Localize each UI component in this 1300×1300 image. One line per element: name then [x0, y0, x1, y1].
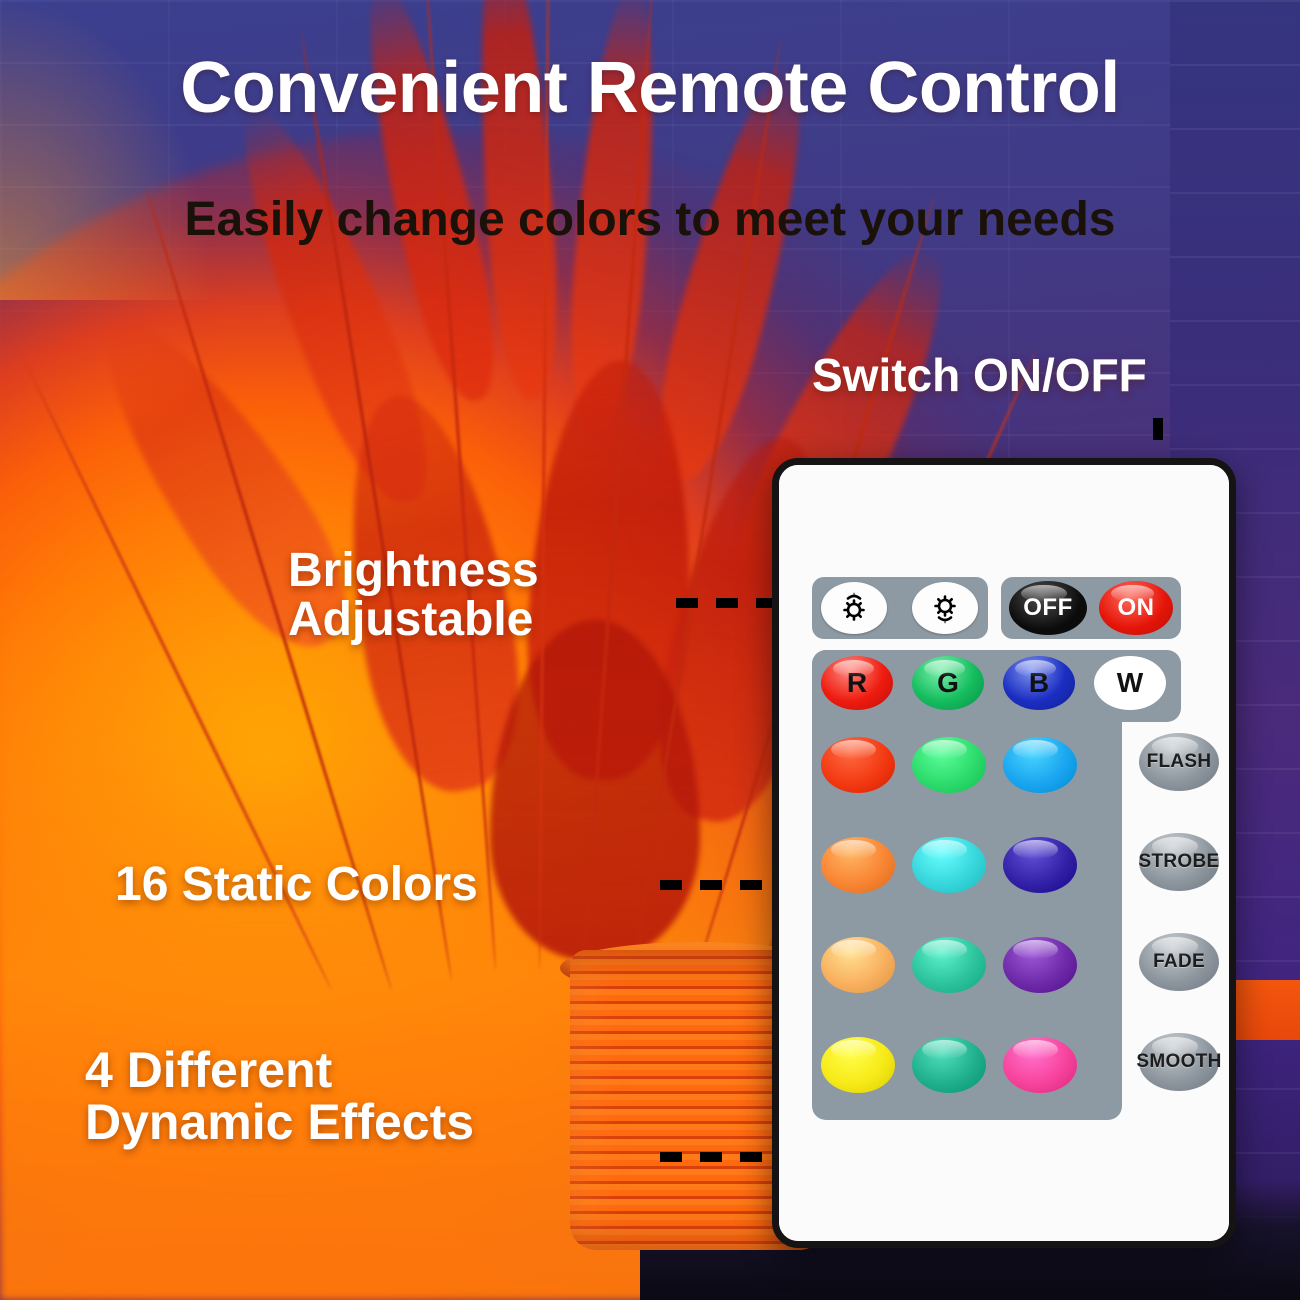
brightness-down-button[interactable] [912, 582, 978, 634]
color-swatch-yellow[interactable] [821, 1037, 895, 1093]
color-swatch-azure[interactable] [1003, 737, 1077, 793]
color-red-label: R [847, 667, 867, 699]
page-title: Convenient Remote Control [0, 52, 1300, 124]
remote-control[interactable]: OFF ON R G B W FLASH [772, 458, 1236, 1248]
color-swatch-turquoise[interactable] [912, 837, 986, 893]
effect-flash-button[interactable]: FLASH [1139, 733, 1219, 791]
color-swatch-sea-green[interactable] [912, 1037, 986, 1093]
color-swatch-orange[interactable] [821, 837, 895, 893]
annotation-dynamic-effects: 4 Different Dynamic Effects [85, 1045, 474, 1148]
effect-flash-label: FLASH [1147, 751, 1212, 773]
effect-fade-label: FADE [1153, 951, 1205, 973]
color-swatch-indigo[interactable] [1003, 837, 1077, 893]
product-feature-image: Convenient Remote Control Easily change … [0, 0, 1300, 1300]
power-off-label: OFF [1023, 594, 1073, 622]
color-swatch-purple[interactable] [1003, 937, 1077, 993]
color-blue-button[interactable]: B [1003, 656, 1075, 710]
remote-faceplate: OFF ON R G B W FLASH [779, 465, 1229, 1241]
color-red-button[interactable]: R [821, 656, 893, 710]
annotation-switch-on-off: Switch ON/OFF [812, 352, 1147, 399]
effect-strobe-button[interactable]: STROBE [1139, 833, 1219, 891]
sun-up-icon [837, 591, 871, 625]
color-swatch-red-orange[interactable] [821, 737, 895, 793]
color-white-label: W [1117, 667, 1143, 699]
effect-fade-button[interactable]: FADE [1139, 933, 1219, 991]
effect-smooth-button[interactable]: SMOOTH [1139, 1033, 1219, 1091]
sun-down-icon [928, 591, 962, 625]
color-swatch-light-orange[interactable] [821, 937, 895, 993]
color-swatch-spring-green[interactable] [912, 737, 986, 793]
brightness-up-button[interactable] [821, 582, 887, 634]
power-on-label: ON [1118, 594, 1155, 622]
color-blue-label: B [1029, 667, 1049, 699]
color-green-button[interactable]: G [912, 656, 984, 710]
page-subtitle: Easily change colors to meet your needs [0, 196, 1300, 244]
color-swatch-pink[interactable] [1003, 1037, 1077, 1093]
effect-strobe-label: STROBE [1139, 851, 1220, 873]
color-green-label: G [937, 667, 959, 699]
annotation-brightness: Brightness Adjustable [288, 546, 539, 645]
effect-smooth-label: SMOOTH [1136, 1051, 1221, 1073]
power-off-button[interactable]: OFF [1009, 581, 1087, 635]
color-swatch-teal-green[interactable] [912, 937, 986, 993]
annotation-static-colors: 16 Static Colors [115, 860, 478, 909]
power-on-button[interactable]: ON [1099, 581, 1173, 635]
color-white-button[interactable]: W [1094, 656, 1166, 710]
